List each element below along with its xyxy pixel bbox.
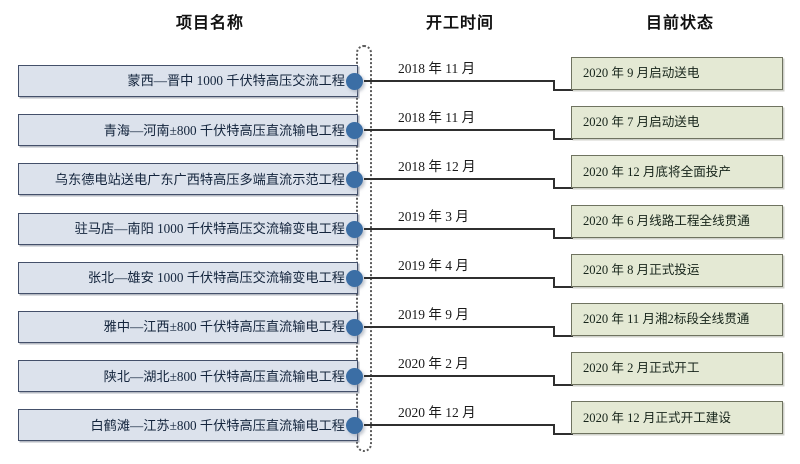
status-label: 2020 年 11 月湘2标段全线贯通 [583,313,749,326]
start-date-label: 2018 年 11 月 [398,57,475,77]
connector-line-entry [553,433,573,435]
status-label: 2020 年 6 月线路工程全线贯通 [583,215,750,228]
connector-line-entry [553,187,573,189]
project-name-label: 雅中—江西±800 千伏特高压直流输电工程 [104,320,345,333]
status-label: 2020 年 9 月启动送电 [583,67,700,80]
milestone-dot-icon [346,73,363,90]
project-name-label: 青海—河南±800 千伏特高压直流输电工程 [104,124,345,137]
status-label: 2020 年 8 月正式投运 [583,264,700,277]
connector-line-entry [553,237,573,239]
status-box[interactable]: 2020 年 9 月启动送电 [571,57,783,90]
connector-line-entry [553,286,573,288]
project-box[interactable]: 乌东德电站送电广东广西特高压多端直流示范工程 [18,163,358,195]
project-name-label: 陕北—湖北±800 千伏特高压直流输电工程 [104,370,345,383]
milestone-dot-icon [346,221,363,238]
timeline-row: 白鹤滩—江苏±800 千伏特高压直流输电工程2020 年 12 月2020 年 … [0,409,800,458]
project-name-label: 蒙西—晋中 1000 千伏特高压交流工程 [127,74,345,87]
status-box[interactable]: 2020 年 7 月启动送电 [571,106,783,139]
project-box[interactable]: 蒙西—晋中 1000 千伏特高压交流工程 [18,65,358,97]
connector-line-horizontal [364,326,555,328]
status-box[interactable]: 2020 年 8 月正式投运 [571,254,783,287]
status-label: 2020 年 2 月正式开工 [583,362,700,375]
column-header-project: 项目名称 [100,9,320,33]
start-date-label: 2020 年 12 月 [398,401,476,421]
connector-line-horizontal [364,375,555,377]
milestone-dot-icon [346,270,363,287]
start-date-label: 2019 年 9 月 [398,303,469,323]
project-box[interactable]: 青海—河南±800 千伏特高压直流输电工程 [18,114,358,146]
start-date-label: 2018 年 11 月 [398,106,475,126]
connector-line-entry [553,89,573,91]
project-name-label: 张北—雄安 1000 千伏特高压交流输变电工程 [88,271,345,284]
timeline-diagram: 项目名称 开工时间 目前状态 蒙西—晋中 1000 千伏特高压交流工程2018 … [0,0,800,464]
connector-line-horizontal [364,277,555,279]
start-date-label: 2019 年 4 月 [398,254,469,274]
project-box[interactable]: 陕北—湖北±800 千伏特高压直流输电工程 [18,360,358,392]
connector-line-horizontal [364,228,555,230]
milestone-dot-icon [346,417,363,434]
project-box[interactable]: 张北—雄安 1000 千伏特高压交流输变电工程 [18,262,358,294]
status-box[interactable]: 2020 年 12 月正式开工建设 [571,401,783,434]
status-box[interactable]: 2020 年 6 月线路工程全线贯通 [571,205,783,238]
connector-line-entry [553,384,573,386]
status-box[interactable]: 2020 年 12 月底将全面投产 [571,155,783,188]
project-name-label: 白鹤滩—江苏±800 千伏特高压直流输电工程 [90,419,345,432]
project-box[interactable]: 白鹤滩—江苏±800 千伏特高压直流输电工程 [18,409,358,441]
connector-line-horizontal [364,129,555,131]
column-header-status: 目前状态 [570,9,790,33]
connector-line-entry [553,138,573,140]
project-name-label: 乌东德电站送电广东广西特高压多端直流示范工程 [55,173,345,186]
connector-line-horizontal [364,424,555,426]
start-date-label: 2020 年 2 月 [398,352,469,372]
milestone-dot-icon [346,368,363,385]
project-box[interactable]: 雅中—江西±800 千伏特高压直流输电工程 [18,311,358,343]
status-box[interactable]: 2020 年 2 月正式开工 [571,352,783,385]
connector-line-horizontal [364,178,555,180]
start-date-label: 2019 年 3 月 [398,205,469,225]
status-label: 2020 年 12 月底将全面投产 [583,166,731,179]
status-label: 2020 年 7 月启动送电 [583,116,700,129]
milestone-dot-icon [346,122,363,139]
status-box[interactable]: 2020 年 11 月湘2标段全线贯通 [571,303,783,336]
start-date-label: 2018 年 12 月 [398,155,476,175]
connector-line-horizontal [364,80,555,82]
project-box[interactable]: 驻马店—南阳 1000 千伏特高压交流输变电工程 [18,213,358,245]
connector-line-entry [553,335,573,337]
status-label: 2020 年 12 月正式开工建设 [583,412,731,425]
milestone-dot-icon [346,171,363,188]
project-name-label: 驻马店—南阳 1000 千伏特高压交流输变电工程 [75,222,345,235]
column-header-date: 开工时间 [390,9,530,33]
milestone-dot-icon [346,319,363,336]
